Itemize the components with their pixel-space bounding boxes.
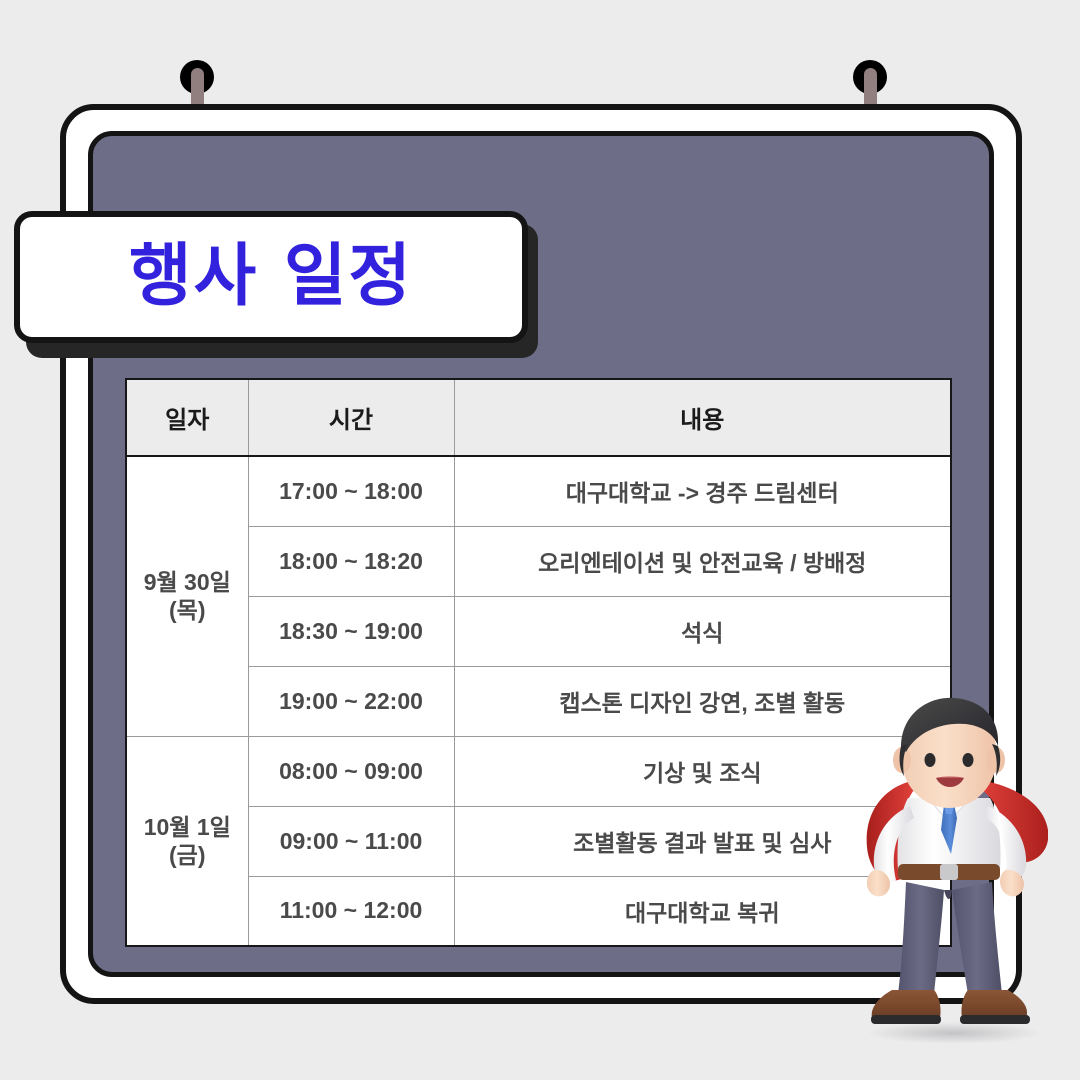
poster-canvas: 행사 일정 일자 시간 내용 9월 30일 (목) 17:00 ~ 18:00 bbox=[0, 0, 1080, 1080]
shoes bbox=[871, 990, 1030, 1024]
table-row: 09:00 ~ 11:00 조별활동 결과 발표 및 심사 bbox=[126, 806, 951, 876]
time-cell: 08:00 ~ 09:00 bbox=[248, 736, 454, 806]
date-line-2: (목) bbox=[169, 597, 205, 623]
schedule-table: 일자 시간 내용 9월 30일 (목) 17:00 ~ 18:00 대구대학교 … bbox=[125, 378, 952, 947]
date-line-1: 10월 1일 bbox=[144, 814, 231, 840]
date-group-cell: 10월 1일 (금) bbox=[126, 736, 248, 946]
table-row: 10월 1일 (금) 08:00 ~ 09:00 기상 및 조식 bbox=[126, 736, 951, 806]
table-row: 9월 30일 (목) 17:00 ~ 18:00 대구대학교 -> 경주 드림센… bbox=[126, 456, 951, 526]
content-cell: 오리엔테이션 및 안전교육 / 방배정 bbox=[454, 526, 951, 596]
table-row: 19:00 ~ 22:00 캡스톤 디자인 강연, 조별 활동 bbox=[126, 666, 951, 736]
date-group-cell: 9월 30일 (목) bbox=[126, 456, 248, 736]
column-header-date: 일자 bbox=[126, 379, 248, 456]
time-cell: 19:00 ~ 22:00 bbox=[248, 666, 454, 736]
title-plate: 행사 일정 bbox=[14, 211, 528, 343]
column-header-content: 내용 bbox=[454, 379, 951, 456]
table-header: 일자 시간 내용 bbox=[126, 379, 951, 456]
hero-businessman-illustration bbox=[848, 694, 1048, 1046]
legs bbox=[898, 882, 1002, 994]
time-cell: 18:30 ~ 19:00 bbox=[248, 596, 454, 666]
column-header-time: 시간 bbox=[248, 379, 454, 456]
table-row: 18:00 ~ 18:20 오리엔테이션 및 안전교육 / 방배정 bbox=[126, 526, 951, 596]
table-row: 11:00 ~ 12:00 대구대학교 복귀 bbox=[126, 876, 951, 946]
time-cell: 09:00 ~ 11:00 bbox=[248, 806, 454, 876]
date-line-1: 9월 30일 bbox=[144, 569, 231, 595]
page-title: 행사 일정 bbox=[129, 243, 413, 311]
date-line-2: (금) bbox=[169, 842, 205, 868]
content-cell: 석식 bbox=[454, 596, 951, 666]
time-cell: 17:00 ~ 18:00 bbox=[248, 456, 454, 526]
table-body: 9월 30일 (목) 17:00 ~ 18:00 대구대학교 -> 경주 드림센… bbox=[126, 456, 951, 946]
belt bbox=[898, 864, 1000, 880]
table-header-row: 일자 시간 내용 bbox=[126, 379, 951, 456]
content-cell: 대구대학교 -> 경주 드림센터 bbox=[454, 456, 951, 526]
table-row: 18:30 ~ 19:00 석식 bbox=[126, 596, 951, 666]
time-cell: 18:00 ~ 18:20 bbox=[248, 526, 454, 596]
time-cell: 11:00 ~ 12:00 bbox=[248, 876, 454, 946]
